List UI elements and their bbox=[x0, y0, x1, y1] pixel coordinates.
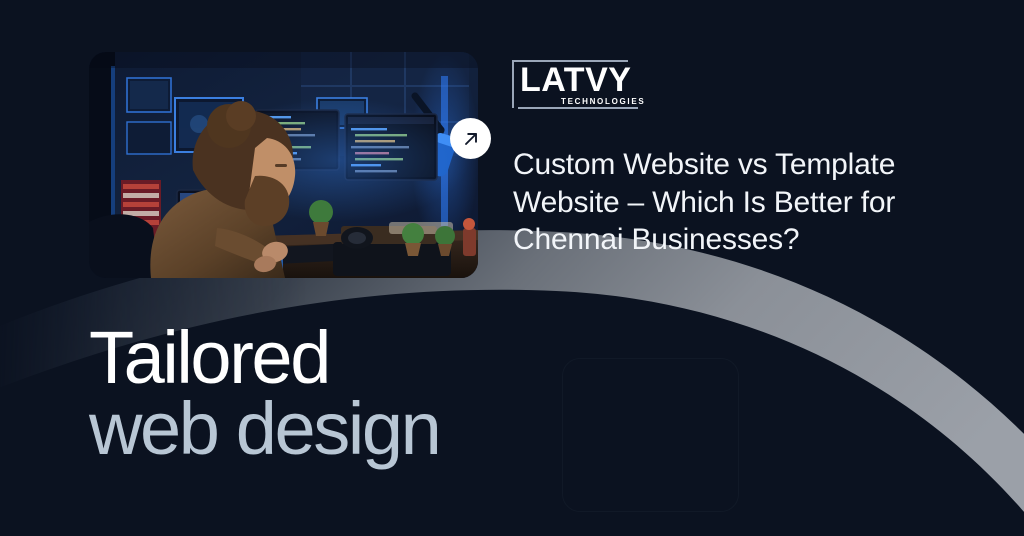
page-title: Tailored web design bbox=[89, 322, 439, 464]
logo-subtitle: TECHNOLOGIES bbox=[561, 97, 645, 106]
decorative-ghost-rect bbox=[562, 358, 739, 512]
arrow-up-right-icon bbox=[461, 129, 481, 149]
logo-wordmark: LATVY bbox=[520, 63, 631, 97]
arrow-up-right-badge[interactable] bbox=[450, 118, 491, 159]
page-title-line-one: Tailored bbox=[89, 322, 439, 393]
article-headline: Custom Website vs Template Website – Whi… bbox=[513, 146, 973, 259]
page-title-line-two: web design bbox=[89, 393, 439, 464]
logo-frame-bottom-line bbox=[518, 107, 638, 109]
logo-frame-left-line bbox=[512, 60, 514, 108]
latvy-logo: LATVY TECHNOLOGIES bbox=[512, 60, 638, 116]
banner-canvas: LATVY TECHNOLOGIES Custom Website vs Tem… bbox=[0, 0, 1024, 536]
hero-photo bbox=[89, 52, 478, 278]
